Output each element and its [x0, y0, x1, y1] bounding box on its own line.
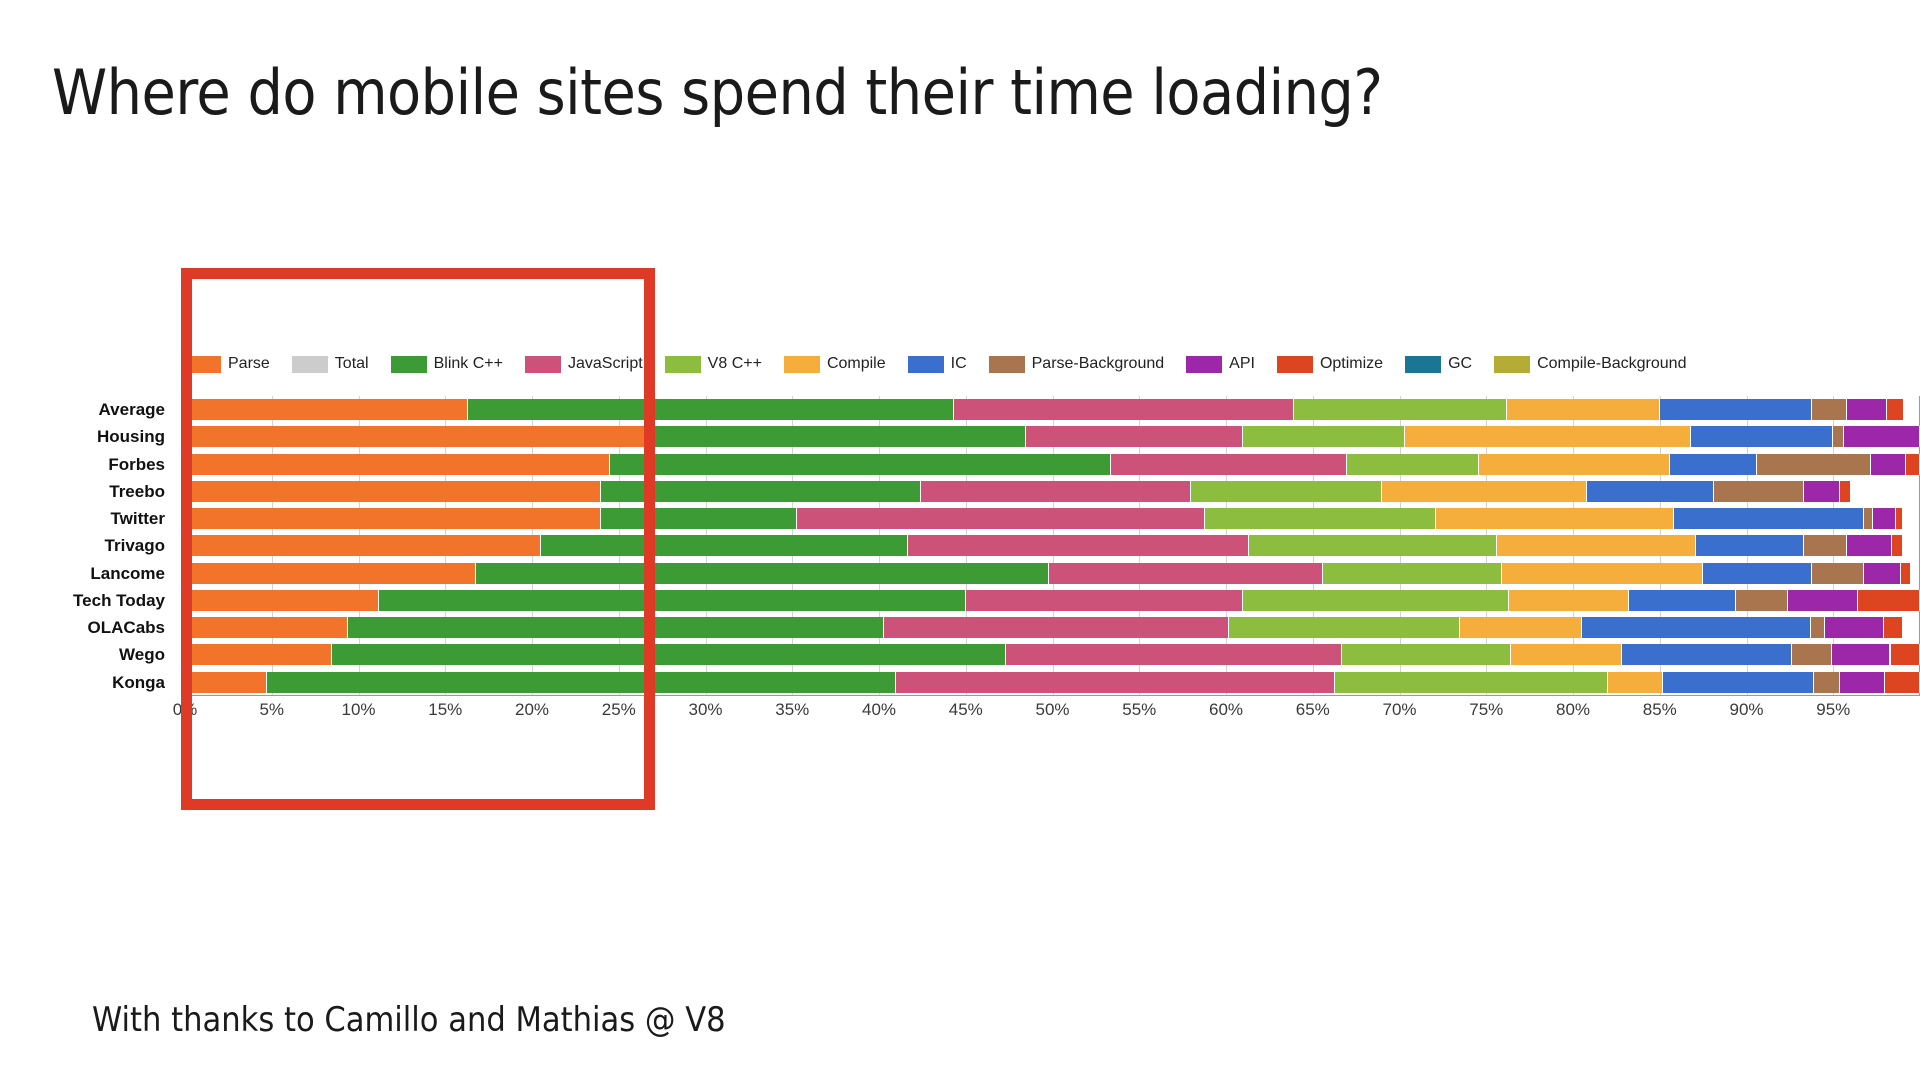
bar-segment-compile[interactable] [1405, 426, 1691, 447]
bar-track [185, 590, 1920, 611]
x-axis-tick-label: 55% [1122, 700, 1156, 720]
bar-segment-blink-c-[interactable] [332, 644, 1005, 665]
bar-row[interactable] [185, 641, 1920, 668]
bar-segment-javascript[interactable] [1111, 454, 1347, 475]
bar-segment-blink-c-[interactable] [601, 508, 797, 529]
bar-segment-optimize[interactable] [1840, 481, 1850, 502]
bar-segment-parse[interactable] [185, 481, 601, 502]
x-axis-tick-label: 90% [1729, 700, 1763, 720]
y-axis-label-housing: Housing [97, 423, 165, 450]
bar-row[interactable] [185, 587, 1920, 614]
bar-segment-v8-c-[interactable] [1347, 454, 1479, 475]
bar-segment-api[interactable] [1804, 481, 1840, 502]
bar-segment-javascript[interactable] [966, 590, 1244, 611]
bar-segment-ic[interactable] [1587, 481, 1714, 502]
bar-segment-v8-c-[interactable] [1342, 644, 1510, 665]
bar-segment-javascript[interactable] [797, 508, 1205, 529]
legend-item-blink-c-[interactable]: Blink C++ [391, 355, 503, 373]
legend-swatch-icon [1494, 356, 1530, 373]
bar-track [185, 672, 1920, 693]
legend-swatch-icon [525, 356, 561, 373]
bar-segment-blink-c-[interactable] [610, 454, 1111, 475]
bar-segment-compile[interactable] [1509, 590, 1629, 611]
legend-item-compile[interactable]: Compile [784, 355, 886, 373]
bar-segment-compile[interactable] [1382, 481, 1587, 502]
legend-swatch-icon [1277, 356, 1313, 373]
bar-segment-ic[interactable] [1674, 508, 1865, 529]
y-axis-tick-labels: AverageHousingForbesTreeboTwitterTrivago… [0, 396, 175, 696]
legend-item-compile-background[interactable]: Compile-Background [1494, 355, 1686, 373]
legend-label: IC [951, 355, 967, 373]
y-axis-label-twitter: Twitter [111, 505, 165, 532]
y-axis-label-lancome: Lancome [90, 560, 165, 587]
bar-segment-ic[interactable] [1696, 535, 1804, 556]
bar-segment-optimize[interactable] [1884, 617, 1903, 638]
x-axis-tick-label: 95% [1816, 700, 1850, 720]
legend-item-javascript[interactable]: JavaScript [525, 355, 643, 373]
bar-segment-blink-c-[interactable] [653, 426, 1026, 447]
bar-segment-v8-c-[interactable] [1229, 617, 1460, 638]
legend-swatch-icon [908, 356, 944, 373]
chart-legend: ParseTotalBlink C++JavaScriptV8 C++Compi… [185, 352, 1708, 376]
legend-swatch-icon [1186, 356, 1222, 373]
bar-segment-optimize[interactable] [1887, 399, 1904, 420]
legend-item-parse-background[interactable]: Parse-Background [989, 355, 1165, 373]
bar-segment-javascript[interactable] [1049, 563, 1323, 584]
bar-segment-javascript[interactable] [908, 535, 1248, 556]
bar-segment-parse-background[interactable] [1864, 508, 1873, 529]
bar-segment-javascript[interactable] [884, 617, 1229, 638]
y-axis-label-treebo: Treebo [109, 478, 165, 505]
legend-swatch-icon [292, 356, 328, 373]
bar-segment-api[interactable] [1847, 399, 1887, 420]
bar-track [185, 481, 1920, 502]
legend-swatch-icon [391, 356, 427, 373]
bar-segment-ic[interactable] [1663, 672, 1814, 693]
bar-segment-api[interactable] [1840, 672, 1885, 693]
bar-segment-ic[interactable] [1691, 426, 1833, 447]
y-axis-label-wego: Wego [119, 641, 165, 668]
bar-segment-ic[interactable] [1670, 454, 1757, 475]
bar-segment-optimize[interactable] [1891, 644, 1920, 665]
bar-row[interactable] [185, 560, 1920, 587]
x-axis-tick-label: 65% [1296, 700, 1330, 720]
legend-item-ic[interactable]: IC [908, 355, 967, 373]
plot-area: AverageHousingForbesTreeboTwitterTrivago… [185, 396, 1920, 736]
bar-segment-ic[interactable] [1703, 563, 1812, 584]
bar-segment-javascript[interactable] [896, 672, 1335, 693]
bar-segment-blink-c-[interactable] [468, 399, 954, 420]
bar-track [185, 454, 1920, 475]
bar-segment-javascript[interactable] [1026, 426, 1243, 447]
bar-segment-blink-c-[interactable] [476, 563, 1049, 584]
bar-segment-compile[interactable] [1436, 508, 1674, 529]
bar-segment-ic[interactable] [1582, 617, 1811, 638]
bar-track [185, 399, 1920, 420]
bar-segment-api[interactable] [1788, 590, 1857, 611]
bar-segment-api[interactable] [1832, 644, 1891, 665]
y-axis-label-forbes: Forbes [108, 451, 165, 478]
bar-segment-v8-c-[interactable] [1294, 399, 1507, 420]
bar-segment-parse-background[interactable] [1792, 644, 1832, 665]
bar-segment-optimize[interactable] [1896, 508, 1903, 529]
bar-segment-api[interactable] [1844, 426, 1920, 447]
bar-segment-compile[interactable] [1502, 563, 1703, 584]
y-axis-label-konga: Konga [112, 669, 165, 696]
legend-swatch-icon [989, 356, 1025, 373]
legend-label: Parse [228, 355, 270, 373]
bar-segment-parse[interactable] [185, 454, 610, 475]
bar-segment-compile[interactable] [1460, 617, 1581, 638]
bar-track [185, 535, 1920, 556]
bar-segment-api[interactable] [1847, 535, 1892, 556]
bar-segment-parse-background[interactable] [1714, 481, 1804, 502]
x-axis-tick-label: 40% [862, 700, 896, 720]
x-axis-tick-label: 80% [1556, 700, 1590, 720]
legend-label: V8 C++ [708, 355, 762, 373]
y-axis-label-trivago: Trivago [105, 532, 165, 559]
bar-segment-blink-c-[interactable] [601, 481, 920, 502]
bar-segment-optimize[interactable] [1892, 535, 1902, 556]
legend-swatch-icon [665, 356, 701, 373]
bar-track [185, 617, 1920, 638]
x-axis-tick-label: 20% [515, 700, 549, 720]
bar-segment-parse[interactable] [185, 399, 468, 420]
bar-segment-ic[interactable] [1629, 590, 1737, 611]
bar-segment-compile[interactable] [1507, 399, 1660, 420]
x-axis-tick-label: 75% [1469, 700, 1503, 720]
bar-segment-compile[interactable] [1608, 672, 1664, 693]
legend-label: Optimize [1320, 355, 1383, 373]
x-axis-tick-label: 10% [341, 700, 375, 720]
legend-label: Compile [827, 355, 886, 373]
y-axis-label-average: Average [99, 396, 165, 423]
legend-swatch-icon [1405, 356, 1441, 373]
bar-segment-v8-c-[interactable] [1243, 426, 1404, 447]
bar-segment-compile[interactable] [1479, 454, 1670, 475]
bar-segment-api[interactable] [1873, 508, 1896, 529]
x-axis-tick-label: 35% [775, 700, 809, 720]
bar-row[interactable] [185, 478, 1920, 505]
bar-segment-v8-c-[interactable] [1243, 590, 1508, 611]
legend-label: JavaScript [568, 355, 643, 373]
bar-row[interactable] [185, 532, 1920, 559]
bar-segment-parse[interactable] [185, 644, 332, 665]
bar-segment-optimize[interactable] [1901, 563, 1911, 584]
legend-item-optimize[interactable]: Optimize [1277, 355, 1383, 373]
bar-segment-parse-background[interactable] [1736, 590, 1788, 611]
bar-segment-parse-background[interactable] [1804, 535, 1847, 556]
bar-segment-javascript[interactable] [1006, 644, 1343, 665]
bar-segment-ic[interactable] [1660, 399, 1813, 420]
bar-segment-parse-background[interactable] [1833, 426, 1843, 447]
bar-track [185, 563, 1920, 584]
bar-segment-parse[interactable] [185, 508, 601, 529]
x-axis-tick-label: 15% [428, 700, 462, 720]
bar-segment-api[interactable] [1864, 563, 1900, 584]
bar-segment-optimize[interactable] [1885, 672, 1920, 693]
x-axis-tick-label: 45% [949, 700, 983, 720]
bar-segment-blink-c-[interactable] [267, 672, 897, 693]
bar-segment-v8-c-[interactable] [1191, 481, 1382, 502]
bar-segment-parse-background[interactable] [1812, 399, 1847, 420]
bar-row[interactable] [185, 423, 1920, 450]
bar-segment-blink-c-[interactable] [348, 617, 884, 638]
legend-item-api[interactable]: API [1186, 355, 1255, 373]
x-axis-tick-label: 70% [1382, 700, 1416, 720]
bar-segment-optimize[interactable] [1858, 590, 1920, 611]
bar-track [185, 508, 1920, 529]
legend-item-total[interactable]: Total [292, 355, 369, 373]
bar-segment-compile[interactable] [1497, 535, 1697, 556]
bar-segment-v8-c-[interactable] [1205, 508, 1436, 529]
legend-swatch-icon [185, 356, 221, 373]
legend-label: GC [1448, 355, 1472, 373]
bar-segment-v8-c-[interactable] [1335, 672, 1607, 693]
bar-track [185, 426, 1920, 447]
bar-segment-ic[interactable] [1622, 644, 1792, 665]
y-axis-label-olacabs: OLACabs [88, 614, 165, 641]
bar-segment-parse[interactable] [185, 672, 267, 693]
x-axis-tick-label: 5% [259, 700, 284, 720]
x-axis-tick-labels: 0%5%10%15%20%25%30%35%40%45%50%55%60%65%… [185, 700, 1920, 730]
bar-segment-parse[interactable] [185, 563, 476, 584]
bar-segment-parse-background[interactable] [1812, 563, 1864, 584]
x-axis-tick-label: 25% [602, 700, 636, 720]
bar-segment-parse[interactable] [185, 535, 541, 556]
bar-segment-api[interactable] [1825, 617, 1884, 638]
bar-track [185, 644, 1920, 665]
bar-row[interactable] [185, 396, 1920, 423]
bar-segment-parse[interactable] [185, 590, 379, 611]
bar-row[interactable] [185, 669, 1920, 696]
bar-segment-javascript[interactable] [954, 399, 1294, 420]
legend-item-gc[interactable]: GC [1405, 355, 1472, 373]
bar-segment-parse[interactable] [185, 617, 348, 638]
bar-segment-parse-background[interactable] [1814, 672, 1840, 693]
legend-label: Compile-Background [1537, 355, 1686, 373]
bar-segment-api[interactable] [1871, 454, 1906, 475]
x-axis-tick-label: 60% [1209, 700, 1243, 720]
stacked-bar-chart: ParseTotalBlink C++JavaScriptV8 C++Compi… [0, 330, 1920, 800]
bar-segment-blink-c-[interactable] [379, 590, 965, 611]
legend-swatch-icon [784, 356, 820, 373]
x-axis-tick-label: 0% [173, 700, 198, 720]
bar-segment-optimize[interactable] [1906, 454, 1920, 475]
bar-segment-parse-background[interactable] [1811, 617, 1825, 638]
legend-item-v8-c-[interactable]: V8 C++ [665, 355, 762, 373]
x-axis-tick-label: 30% [688, 700, 722, 720]
y-axis-label-tech-today: Tech Today [73, 587, 165, 614]
legend-item-parse[interactable]: Parse [185, 355, 270, 373]
bar-row[interactable] [185, 451, 1920, 478]
bar-segment-blink-c-[interactable] [541, 535, 909, 556]
bar-segment-parse[interactable] [185, 426, 653, 447]
bar-segment-v8-c-[interactable] [1323, 563, 1502, 584]
x-axis-tick-label: 85% [1643, 700, 1677, 720]
legend-label: Blink C++ [434, 355, 503, 373]
bar-row[interactable] [185, 614, 1920, 641]
bar-segment-compile[interactable] [1511, 644, 1622, 665]
legend-label: Total [335, 355, 369, 373]
slide-caption: With thanks to Camillo and Mathias @ V8 [92, 1000, 726, 1040]
bar-row[interactable] [185, 505, 1920, 532]
page-title: Where do mobile sites spend their time l… [52, 56, 1382, 129]
x-axis-tick-label: 50% [1035, 700, 1069, 720]
bar-segment-javascript[interactable] [921, 481, 1192, 502]
legend-label: API [1229, 355, 1255, 373]
bar-segment-v8-c-[interactable] [1249, 535, 1497, 556]
plot-inner: AverageHousingForbesTreeboTwitterTrivago… [185, 396, 1920, 696]
legend-label: Parse-Background [1032, 355, 1165, 373]
bar-segment-parse-background[interactable] [1757, 454, 1872, 475]
